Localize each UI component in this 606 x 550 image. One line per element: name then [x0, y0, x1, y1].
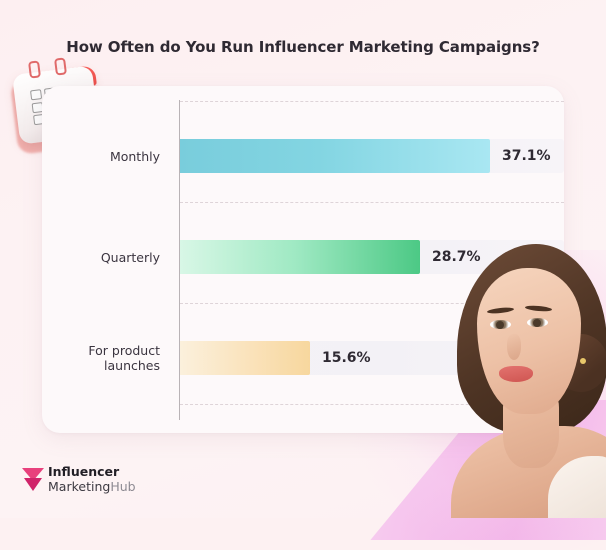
pupil-right [533, 319, 541, 327]
pupil-left [496, 321, 504, 329]
brand-name-hub: Hub [110, 479, 135, 494]
brand-name-line2: MarketingHub [48, 479, 136, 494]
lips [499, 366, 533, 382]
nose [507, 334, 521, 360]
gridline [180, 202, 564, 203]
category-label: For productlaunches [42, 343, 160, 373]
category-label: Quarterly [42, 250, 160, 265]
calendar-ring [54, 57, 67, 75]
brand-name-marketing: Marketing [48, 479, 110, 494]
gridline [180, 101, 564, 102]
brand-name-line1: Influencer [48, 465, 136, 479]
earring [580, 358, 586, 364]
calendar-ring [28, 60, 41, 78]
arrow-mark-icon [22, 468, 44, 492]
brand-logo-text: Influencer MarketingHub [48, 465, 136, 494]
bar[interactable] [180, 139, 490, 173]
arrow-mark-lower [24, 478, 42, 491]
bar-value-label: 37.1% [502, 139, 551, 173]
category-label: Monthly [42, 149, 160, 164]
calendar-cell [30, 89, 42, 100]
brand-logo[interactable]: Influencer MarketingHub [22, 463, 172, 497]
page-title: How Often do You Run Influencer Marketin… [0, 38, 606, 56]
chart-row: Monthly37.1% [42, 139, 564, 173]
bar[interactable] [180, 240, 420, 274]
woman-portrait-image [437, 238, 606, 518]
bar-value-label: 15.6% [322, 341, 371, 375]
bar[interactable] [180, 341, 310, 375]
